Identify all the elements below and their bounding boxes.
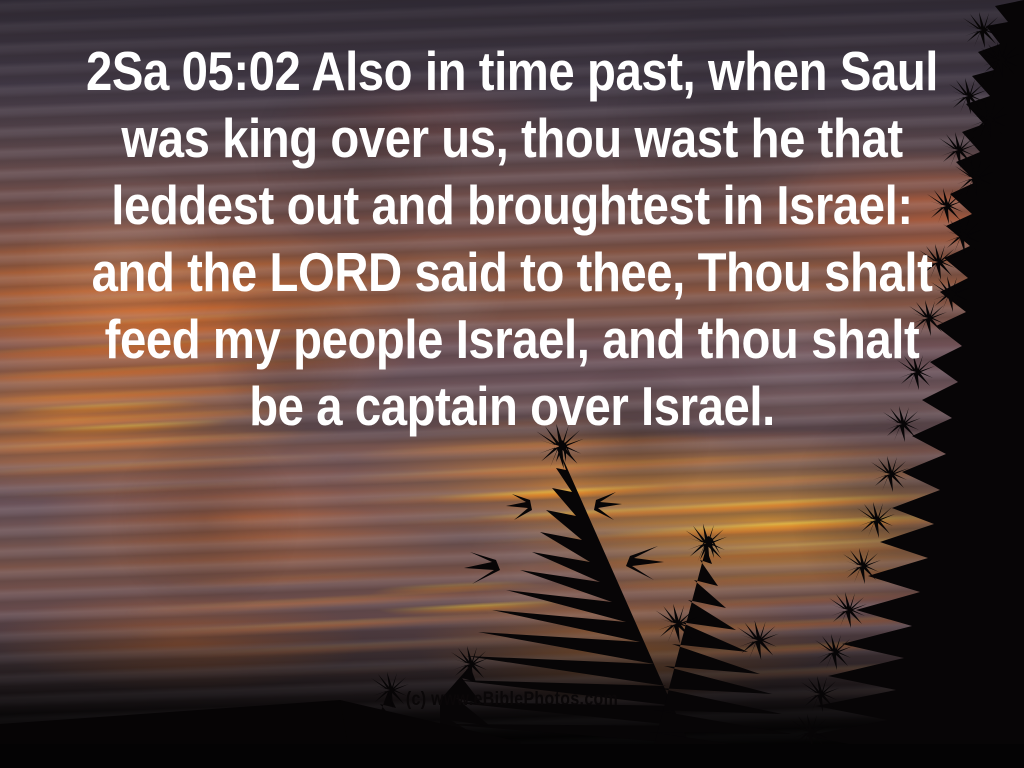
verse-line-4: and the LORD said to thee, Thou shalt: [72, 239, 953, 306]
verse-line-1: 2Sa 05:02 Also in time past, when Saul: [72, 38, 953, 105]
copyright-watermark: (c) www.eBiblePhotos.com: [82, 689, 942, 711]
verse-line-5: feed my people Israel, and thou shalt: [72, 306, 953, 373]
verse-line-3: leddest out and broughtest in Israel:: [72, 172, 953, 239]
verse-line-6: be a captain over Israel.: [72, 373, 953, 440]
bottom-dark-band: [0, 744, 1024, 768]
secondary-pine-silhouette: [648, 524, 804, 768]
verse-text-block: 2Sa 05:02 Also in time past, when Saul w…: [72, 38, 953, 440]
verse-line-2: was king over us, thou wast he that: [72, 105, 953, 172]
verse-photo-canvas: 2Sa 05:02 Also in time past, when Saul w…: [0, 0, 1024, 768]
